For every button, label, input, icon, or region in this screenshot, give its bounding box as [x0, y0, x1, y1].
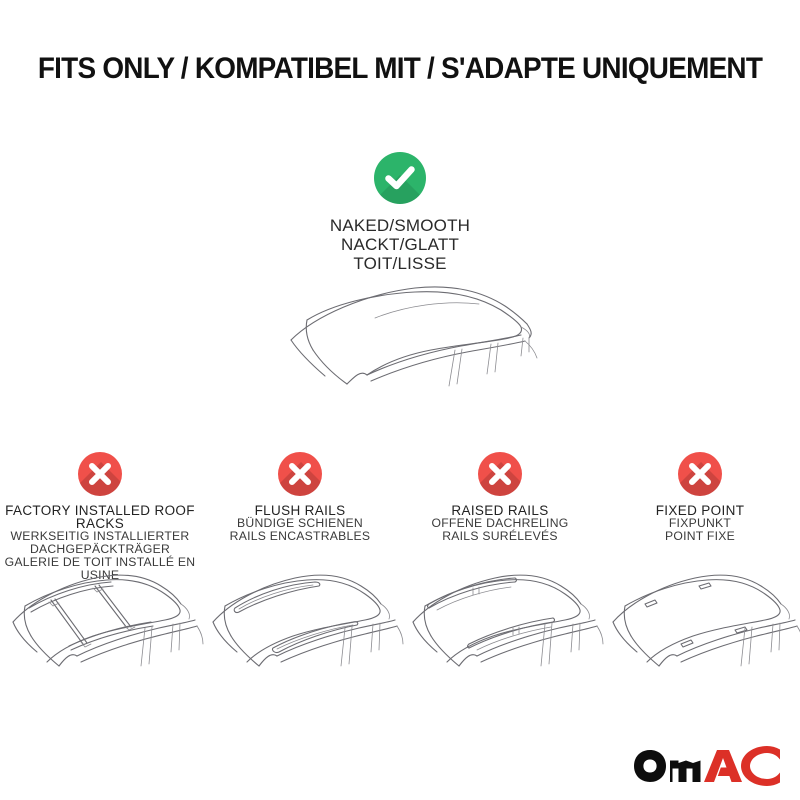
rejected-item-raised-rails: RAISED RAILS OFFENE DACHRELING RAILS SUR…: [400, 452, 600, 702]
approved-labels: NAKED/SMOOTH NACKT/GLATT TOIT/LISSE: [0, 216, 800, 273]
approved-roof-type-block: NAKED/SMOOTH NACKT/GLATT TOIT/LISSE: [0, 152, 800, 273]
car-roof-raised-rails-illustration: [395, 552, 605, 692]
approved-label-en: NAKED/SMOOTH: [0, 216, 800, 235]
omac-logo-om: [634, 750, 701, 782]
rejected-labels: FLUSH RAILS BÜNDIGE SCHIENEN RAILS ENCAS…: [200, 504, 400, 543]
check-circle-icon: [374, 152, 426, 204]
rejected-label-fr: POINT FIXE: [600, 530, 800, 543]
car-roof-naked-smooth-illustration: [255, 278, 565, 408]
x-circle-icon: [678, 452, 722, 496]
check-mark-icon: [374, 152, 426, 204]
rejected-item-factory-installed-roof-racks: FACTORY INSTALLED ROOF RACKS WERKSEITIG …: [0, 452, 200, 702]
page-title: FITS ONLY / KOMPATIBEL MIT / S'ADAPTE UN…: [28, 52, 772, 86]
omac-logo-ac: [704, 746, 780, 786]
x-mark-icon: [78, 452, 122, 496]
rejected-item-fixed-point: FIXED POINT FIXPUNKT POINT FIXE: [600, 452, 800, 702]
x-mark-icon: [478, 452, 522, 496]
x-circle-icon: [278, 452, 322, 496]
rejected-label-fr: RAILS SURÉLEVÉS: [400, 530, 600, 543]
x-circle-icon: [78, 452, 122, 496]
rejected-item-flush-rails: FLUSH RAILS BÜNDIGE SCHIENEN RAILS ENCAS…: [200, 452, 400, 702]
rejected-labels: FIXED POINT FIXPUNKT POINT FIXE: [600, 504, 800, 543]
x-mark-icon: [678, 452, 722, 496]
rejected-roof-types-row: FACTORY INSTALLED ROOF RACKS WERKSEITIG …: [0, 452, 800, 702]
approved-label-de: NACKT/GLATT: [0, 235, 800, 254]
approved-label-fr: TOIT/LISSE: [0, 254, 800, 273]
rejected-label-en: FACTORY INSTALLED ROOF RACKS: [0, 504, 200, 530]
x-mark-icon: [278, 452, 322, 496]
x-circle-icon: [478, 452, 522, 496]
rejected-labels: RAISED RAILS OFFENE DACHRELING RAILS SUR…: [400, 504, 600, 543]
rejected-label-fr: RAILS ENCASTRABLES: [200, 530, 400, 543]
omac-logo: [634, 746, 780, 786]
car-roof-flush-rails-illustration: [195, 552, 405, 692]
car-roof-factory-rack-illustration: [0, 552, 205, 692]
car-roof-fixed-point-illustration: [595, 552, 800, 692]
